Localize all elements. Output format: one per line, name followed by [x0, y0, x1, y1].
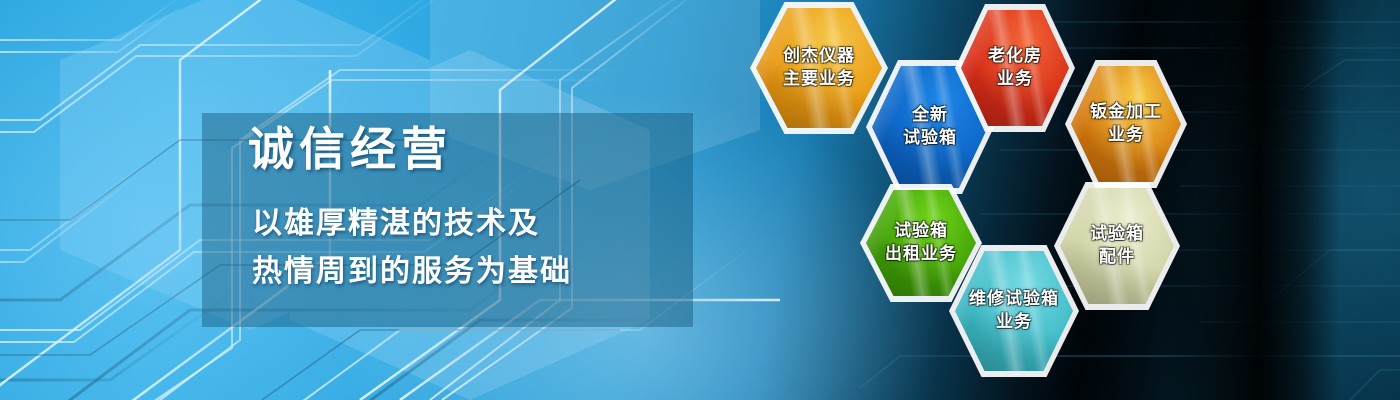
subtitle-line-1: 以雄厚精湛的技术及: [252, 200, 572, 248]
hexagon-label-aging-room: 老化房 业务: [988, 45, 1042, 91]
hexagon-label-chamber-parts: 试验箱 配件: [1090, 223, 1144, 269]
subtitle-line-2: 热情周到的服务为基础: [252, 248, 572, 296]
subtitle-text: 以雄厚精湛的技术及 热情周到的服务为基础: [252, 200, 572, 296]
hexagon-label-new-test-chamber: 全新 试验箱: [903, 104, 957, 150]
background-dark-band: [1160, 0, 1340, 400]
promo-banner: 诚信经营 以雄厚精湛的技术及 热情周到的服务为基础 创杰仪器 主要业务全新 试验…: [0, 0, 1400, 400]
hexagon-label-chamber-rental: 试验箱 出租业务: [885, 220, 957, 266]
page-title: 诚信经营: [248, 126, 452, 172]
hexagon-label-sheet-metal: 钣金加工 业务: [1090, 101, 1162, 147]
hexagon-label-chamber-repair: 维修试验箱 业务: [969, 288, 1059, 334]
hexagon-label-main-business: 创杰仪器 主要业务: [783, 45, 855, 91]
